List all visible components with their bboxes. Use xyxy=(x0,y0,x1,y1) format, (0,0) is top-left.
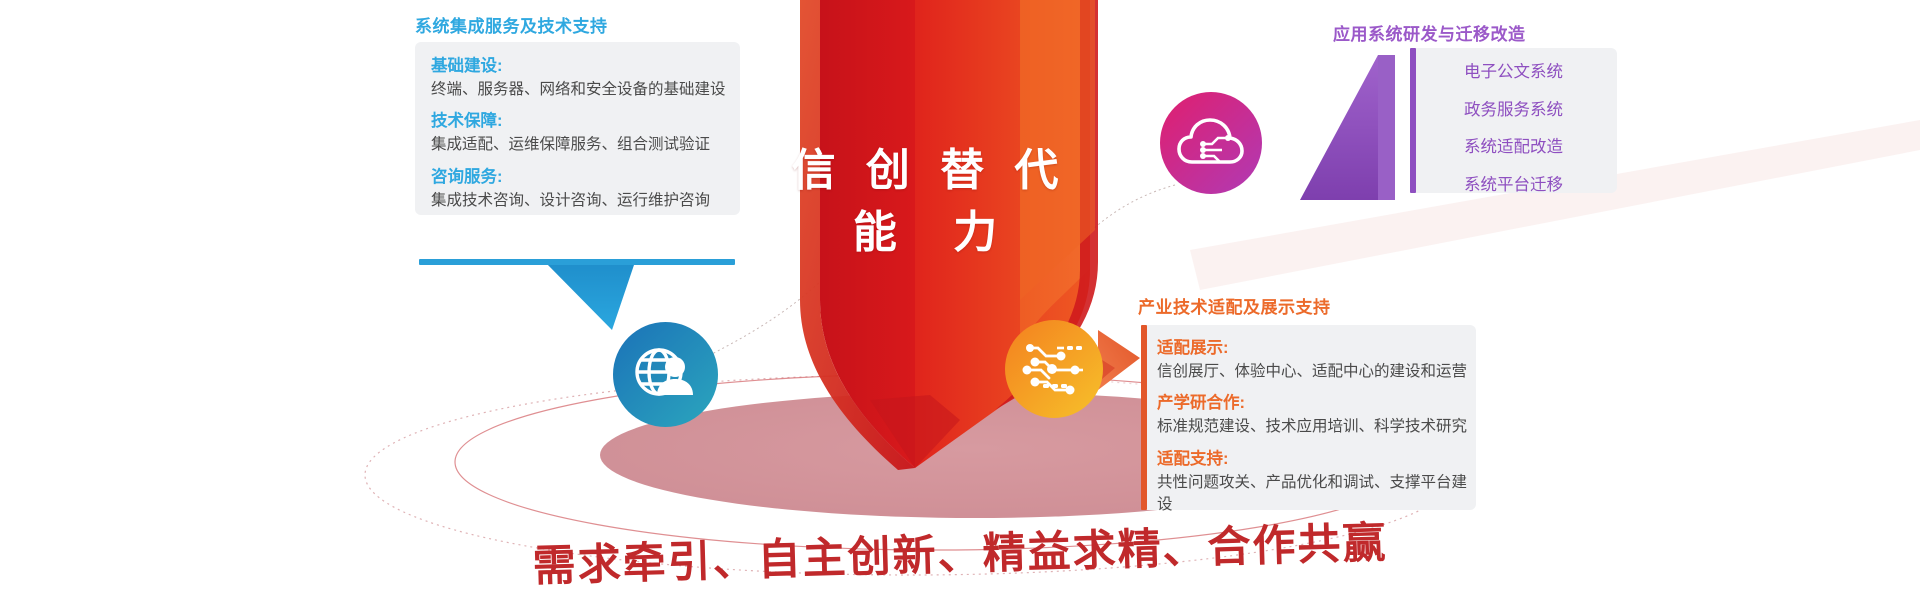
panel-right-item-0: 电子公文系统 xyxy=(1410,64,1617,81)
group-head: 技术保障: xyxy=(431,110,740,134)
group-body: 集成适配、运维保障服务、组合测试验证 xyxy=(431,134,740,156)
panel-left-title: 系统集成服务及技术支持 xyxy=(415,12,608,37)
group-head: 适配展示: xyxy=(1157,337,1476,361)
group-body: 集成技术咨询、设计咨询、运行维护咨询 xyxy=(431,190,740,212)
panel-br-accent-bar xyxy=(1141,325,1147,510)
panel-industry-adaptation[interactable]: 适配展示: 信创展厅、体验中心、适配中心的建设和运营 产学研合作: 标准规范建设… xyxy=(1141,325,1476,510)
globe-user-icon-svg xyxy=(613,322,718,427)
panel-left-group-0: 基础建设: 终端、服务器、网络和安全设备的基础建设 xyxy=(431,55,740,101)
panel-right-accent-bar xyxy=(1410,48,1416,193)
panel-bottom-right-title: 产业技术适配及展示支持 xyxy=(1138,293,1331,318)
group-head: 产学研合作: xyxy=(1157,392,1476,416)
group-head: 基础建设: xyxy=(431,55,740,79)
panel-system-integration[interactable]: 基础建设: 终端、服务器、网络和安全设备的基础建设 技术保障: 集成适配、运维保… xyxy=(415,42,740,215)
panel-left-group-2: 咨询服务: 集成技术咨询、设计咨询、运行维护咨询 xyxy=(431,166,740,212)
group-body: 标准规范建设、技术应用培训、科学技术研究 xyxy=(1157,416,1476,438)
cloud-tech-icon-svg xyxy=(1160,92,1262,194)
circuit-network-icon-svg xyxy=(1005,320,1103,418)
panel-br-group-1: 产学研合作: 标准规范建设、技术应用培训、科学技术研究 xyxy=(1157,392,1476,438)
group-body: 终端、服务器、网络和安全设备的基础建设 xyxy=(431,79,740,101)
group-body: 共性问题攻关、产品优化和调试、支撑平台建设 xyxy=(1157,472,1476,517)
arrow-purple-stem xyxy=(1378,55,1395,200)
panel-br-group-0: 适配展示: 信创展厅、体验中心、适配中心的建设和运营 xyxy=(1157,337,1476,383)
circuit-network-icon[interactable] xyxy=(1005,320,1103,418)
group-body: 信创展厅、体验中心、适配中心的建设和运营 xyxy=(1157,361,1476,383)
panel-br-group-2: 适配支持: 共性问题攻关、产品优化和调试、支撑平台建设 xyxy=(1157,448,1476,517)
panel-left-group-1: 技术保障: 集成适配、运维保障服务、组合测试验证 xyxy=(431,110,740,156)
group-head: 咨询服务: xyxy=(431,166,740,190)
panel-right-item-2: 系统适配改造 xyxy=(1410,139,1617,156)
arrow-blue xyxy=(545,262,635,330)
cloud-tech-icon[interactable] xyxy=(1160,92,1262,194)
panel-right-item-1: 政务服务系统 xyxy=(1410,102,1617,119)
panel-right-title: 应用系统研发与迁移改造 xyxy=(1333,20,1526,45)
arrow-purple xyxy=(1300,55,1378,200)
panel-right-item-3: 系统平台迁移 xyxy=(1410,177,1617,194)
group-head: 适配支持: xyxy=(1157,448,1476,472)
infographic-canvas: 信 创 替 代 能 力 系统集成服务及技术支持 基础建设: 终端、服务器、网络和… xyxy=(0,0,1920,605)
globe-user-icon[interactable] xyxy=(613,322,718,427)
panel-app-development[interactable]: 电子公文系统 政务服务系统 系统适配改造 系统平台迁移 xyxy=(1410,48,1617,193)
panel-left-accent-bar xyxy=(419,259,735,265)
background-artwork xyxy=(0,0,1920,605)
